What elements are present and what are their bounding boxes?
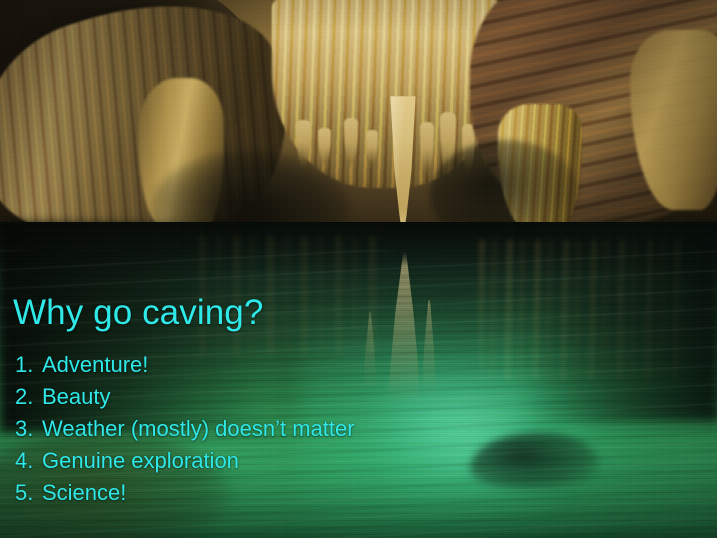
list-item: 3. Weather (mostly) doesn’t matter <box>0 416 355 448</box>
list-item-number: 4. <box>0 448 42 474</box>
slide-title: Why go caving? <box>13 293 263 333</box>
list-item: 4. Genuine exploration <box>0 448 355 480</box>
list-item-label: Beauty <box>42 384 111 410</box>
slide-content: Why go caving? 1. Adventure! 2. Beauty 3… <box>0 0 717 538</box>
bullet-list: 1. Adventure! 2. Beauty 3. Weather (most… <box>0 352 355 512</box>
list-item-label: Weather (mostly) doesn’t matter <box>42 416 355 442</box>
list-item-label: Science! <box>42 480 126 506</box>
list-item-label: Adventure! <box>42 352 148 378</box>
list-item-number: 1. <box>0 352 42 378</box>
list-item: 1. Adventure! <box>0 352 355 384</box>
list-item-label: Genuine exploration <box>42 448 239 474</box>
list-item-number: 3. <box>0 416 42 442</box>
list-item-number: 5. <box>0 480 42 506</box>
list-item: 2. Beauty <box>0 384 355 416</box>
list-item-number: 2. <box>0 384 42 410</box>
presentation-slide: Why go caving? 1. Adventure! 2. Beauty 3… <box>0 0 717 538</box>
list-item: 5. Science! <box>0 480 355 512</box>
